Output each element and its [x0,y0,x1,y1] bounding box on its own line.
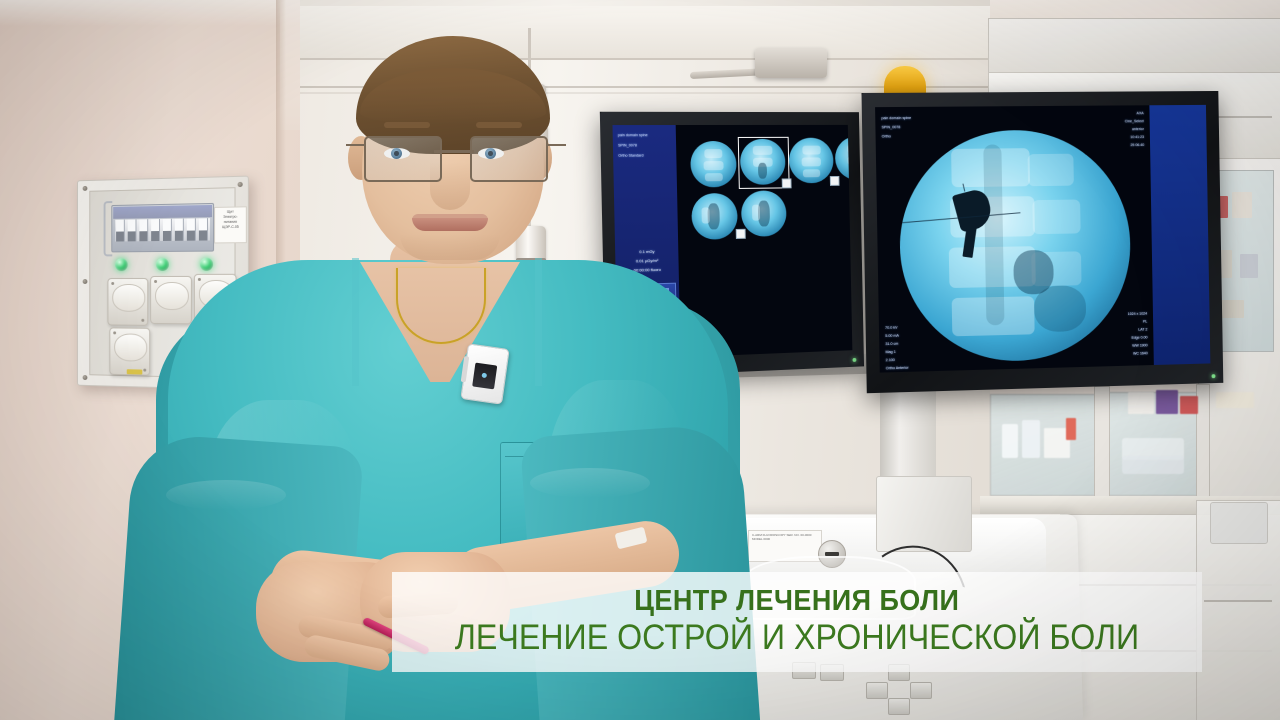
frame-readout: 2.100 [886,358,895,364]
keypad-right-key[interactable] [910,682,932,699]
acquisition-mode: Cine_Select [1125,119,1144,125]
shelf-box [1216,392,1254,408]
screenshot-root: Щит Электро- питания ЩЭР-С-05 [0,0,1280,720]
system-name: AXA [1137,111,1144,116]
eyeglass-lens-left [364,136,442,182]
eyeglass-temple-left [346,144,366,146]
personal-dosimeter-badge[interactable] [460,343,509,404]
xray-thumbnail[interactable] [691,193,738,240]
protocol-name: Ortho [882,134,891,140]
xray-thumbnail[interactable] [741,190,787,236]
study-id: SPIN_0078 [882,125,901,131]
eyebrow-left [384,122,430,128]
matrix-readout: 1024 x 1024 [1128,312,1148,318]
thumbnail-badge [736,229,746,239]
thumbnail-badge [830,176,840,186]
counter-container [1210,502,1268,544]
keypad-left-key[interactable] [866,682,888,699]
shelf-item [1066,418,1076,440]
chin [400,234,500,260]
eyeglass-bridge [434,150,474,153]
shelf-box [1156,390,1178,414]
acquisition-time: 10:41:23 [1130,135,1144,140]
kv-readout: 70.0 kV [885,326,898,332]
live-fluoroscopy-image[interactable] [898,129,1132,364]
shelf-bottle [1022,420,1040,458]
ma-readout: 5.00 mA [885,334,899,340]
edge-readout: Edge 0.00 [1131,335,1147,341]
monitor-screen[interactable]: pain domain spine SPIN_0078 Ortho AXA Ci… [875,105,1210,373]
acquisition-date: 25 06.40 [1130,143,1144,148]
shelf-vials-row [1122,456,1184,474]
banner-title: ЦЕНТР ЛЕЧЕНИЯ БОЛИ [634,587,959,616]
magnification-readout: Mag 1 [885,350,895,356]
keypad-down-key[interactable] [888,698,910,715]
cabinet-drawer-line [1204,600,1272,602]
banner-subtitle: ЛЕЧЕНИЕ ОСТРОЙ И ХРОНИЧЕСКОЙ БОЛИ [455,619,1139,656]
title-banner: ЦЕНТР ЛЕЧЕНИЯ БОЛИ ЛЕЧЕНИЕ ОСТРОЙ И ХРОН… [392,572,1202,672]
lat-readout: LAT 2 [1138,327,1147,333]
window-width-readout: WW 1900 [1132,343,1148,349]
sleeve-cuff-right [530,468,650,498]
fluoroscopy-live-monitor[interactable]: pain domain spine SPIN_0078 Ortho AXA Ci… [861,91,1223,393]
console-upright-housing [876,476,972,552]
eyeglass-temple-right [546,144,566,146]
sid-readout: 31.0 cm [885,342,898,348]
projection-label: anterior [1132,127,1144,132]
study-description: pain domain spine [881,116,911,122]
cabinet-mullion [1094,386,1110,500]
fluoro-side-pane [1149,105,1210,365]
sleeve-cuff-left [166,480,286,510]
shelf-bottle [1002,424,1018,458]
pl-readout: PL [1143,320,1147,325]
eyeglass-lens-right [470,136,548,182]
cabinet-top-frame [988,18,1280,74]
shelf-box [1180,396,1198,414]
orientation-readout: Ortho Anterior [886,366,909,372]
xray-thumbnail[interactable] [789,138,834,184]
xray-thumbnail[interactable] [690,141,737,188]
eyebrow-right [476,122,522,128]
door-closer [755,48,827,78]
window-center-readout: WC 1640 [1133,351,1148,357]
shelf-item [1240,254,1258,278]
thumbnail-badge [782,178,792,188]
cabinet-mullion [1196,384,1210,502]
shelf-item [1232,192,1252,218]
shelf-box [1128,392,1154,414]
mouth [412,218,488,231]
eyeglasses [360,136,548,180]
